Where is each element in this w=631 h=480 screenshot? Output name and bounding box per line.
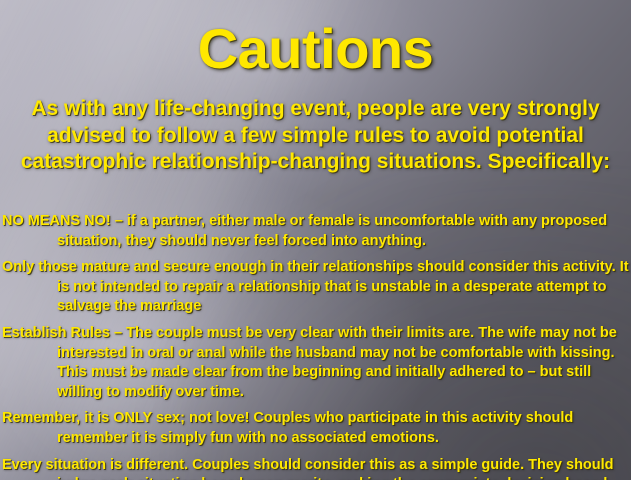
body-paragraph-1: NO MEANS NO! – if a partner, either male…: [2, 212, 629, 251]
slide-title: Cautions: [0, 20, 631, 79]
slide-body-list: NO MEANS NO! – if a partner, either male…: [2, 212, 629, 480]
body-paragraph-3: Establish Rules – The couple must be ver…: [2, 324, 629, 402]
slide-subtitle: As with any life-changing event, people …: [14, 96, 617, 176]
presentation-slide: Cautions As with any life-changing event…: [0, 0, 631, 480]
body-paragraph-2: Only those mature and secure enough in t…: [2, 258, 629, 317]
body-paragraph-4: Remember, it is ONLY sex; not love! Coup…: [2, 409, 629, 448]
slide-content: Cautions As with any life-changing event…: [0, 0, 631, 480]
body-paragraph-5: Every situation is different. Couples sh…: [2, 456, 629, 480]
